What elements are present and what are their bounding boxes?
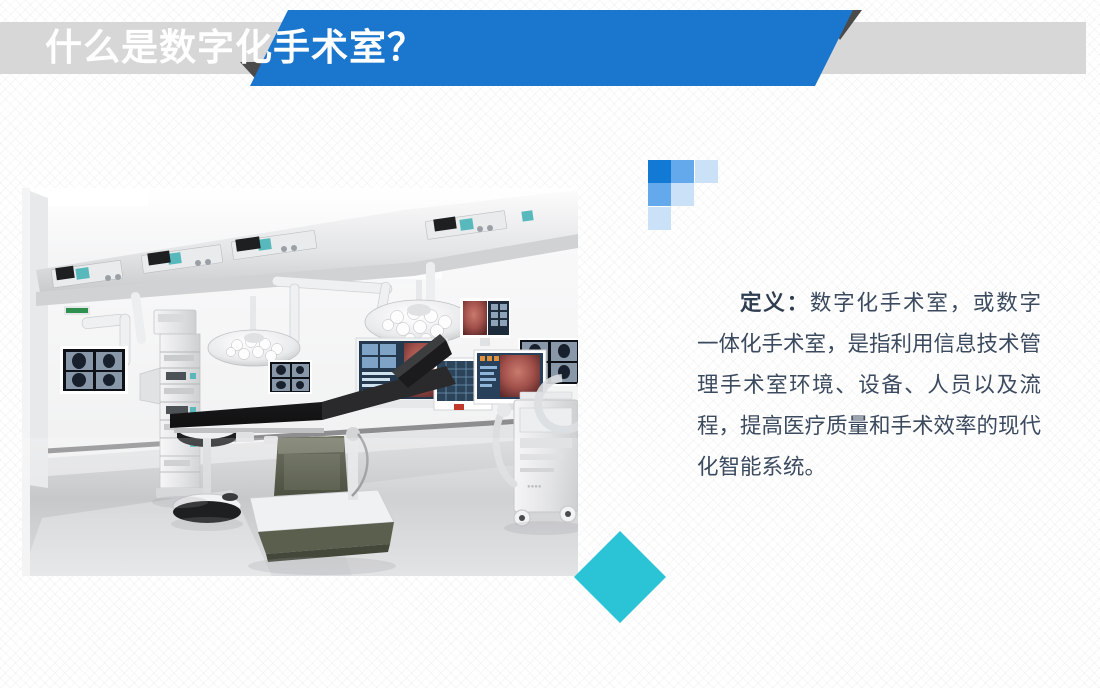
square-r0c2 (695, 160, 718, 183)
slide-canvas: 什么是数字化手术室？ (0, 0, 1100, 688)
square-r0c0 (648, 160, 671, 183)
wall-xray-panel-left (60, 346, 128, 394)
operating-room-illustration: ●●●● (22, 188, 578, 576)
wall-xray-panel-center (268, 360, 312, 394)
square-r1c0 (648, 183, 671, 206)
digital-operating-room-photo: ●●●● (22, 188, 578, 576)
definition-lead-label: 定义： (740, 291, 810, 315)
cyan-diamond (570, 527, 670, 627)
square-r2c0 (648, 207, 671, 230)
blue-square-grid (648, 160, 718, 230)
square-r1c1 (671, 183, 694, 206)
page-title: 什么是数字化手术室？ (45, 22, 425, 74)
square-r0c1 (671, 160, 694, 183)
exit-sign (64, 306, 90, 315)
definition-paragraph: 定义：数字化手术室，或数字一体化手术室，是指利用信息技术管理手术室环境、设备、人… (697, 283, 1041, 488)
definition-body-text: 数字化手术室，或数字一体化手术室，是指利用信息技术管理手术室环境、设备、人员以及… (697, 291, 1041, 479)
